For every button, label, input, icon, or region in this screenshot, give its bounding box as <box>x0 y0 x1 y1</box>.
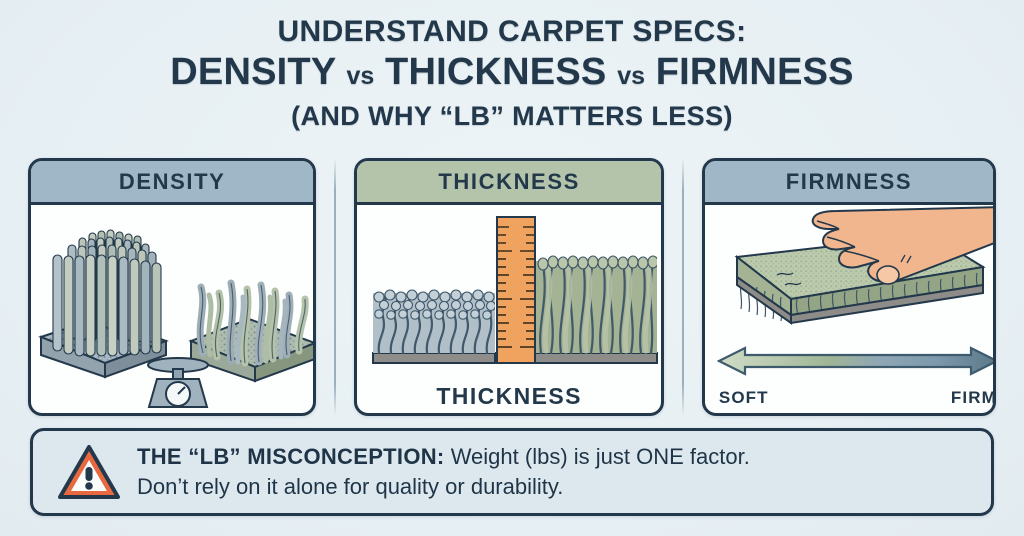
banner-line-2: Don’t rely on it alone for quality or du… <box>137 472 750 502</box>
panel-header-density: DENSITY <box>31 161 313 205</box>
banner-heading: THE “LB” MISCONCEPTION: <box>137 444 445 469</box>
panel-header-firmness-label: FIRMNESS <box>786 169 912 195</box>
panel-thickness: THICKNESS <box>354 158 664 416</box>
panel-header-density-label: DENSITY <box>119 169 226 195</box>
banner-line-1-rest: Weight (lbs) is just ONE factor. <box>445 444 750 469</box>
panel-divider-1 <box>334 160 336 414</box>
title-line-3: (AND WHY “LB” MATTERS LESS) <box>0 98 1024 134</box>
banner-line-1: THE “LB” MISCONCEPTION: Weight (lbs) is … <box>137 442 750 472</box>
panel-header-thickness: THICKNESS <box>357 161 661 205</box>
title-vs-1: vs <box>346 62 374 90</box>
title-firmness: FIRMNESS <box>656 51 854 93</box>
warning-triangle-icon <box>57 442 121 502</box>
soft-firm-gradient-arrow <box>717 346 996 376</box>
low-pile-carpet <box>373 290 496 353</box>
weighing-scale-icon <box>148 358 208 407</box>
title-block: UNDERSTAND CARPET SPECS: DENSITY vs THIC… <box>0 14 1024 134</box>
dense-tuft-block <box>41 230 166 377</box>
title-line-2: DENSITY vs THICKNESS vs FIRMNESS <box>0 50 1024 98</box>
ruler-icon <box>497 217 535 363</box>
title-thickness: THICKNESS <box>385 51 606 93</box>
panel-density: DENSITY <box>28 158 316 416</box>
title-vs-2: vs <box>617 62 645 90</box>
panel-firmness: FIRMNESS <box>702 158 996 416</box>
title-density: DENSITY <box>170 51 335 93</box>
panel-caption-thickness: THICKNESS <box>357 383 661 410</box>
firmness-illustration <box>705 205 996 355</box>
banner-text-block: THE “LB” MISCONCEPTION: Weight (lbs) is … <box>137 442 750 502</box>
panel-header-thickness-label: THICKNESS <box>438 169 580 195</box>
high-pile-carpet <box>535 256 658 353</box>
label-soft: SOFT <box>719 388 769 408</box>
label-firm: FIRM <box>951 388 996 408</box>
sparse-tuft-block <box>191 283 315 381</box>
panel-divider-2 <box>682 160 684 414</box>
panel-header-firmness: FIRMNESS <box>705 161 993 205</box>
panel-body-firmness: SOFT FIRM <box>705 205 993 416</box>
firmness-scale-labels: SOFT FIRM <box>719 388 996 408</box>
thickness-illustration <box>357 205 664 375</box>
infographic-canvas: UNDERSTAND CARPET SPECS: DENSITY vs THIC… <box>0 0 1024 536</box>
panel-row: DENSITY <box>28 158 996 416</box>
misconception-banner: THE “LB” MISCONCEPTION: Weight (lbs) is … <box>30 428 994 516</box>
title-line-1: UNDERSTAND CARPET SPECS: <box>0 14 1024 50</box>
panel-body-density <box>31 205 313 416</box>
density-illustration <box>31 205 316 416</box>
panel-body-thickness: THICKNESS <box>357 205 661 416</box>
